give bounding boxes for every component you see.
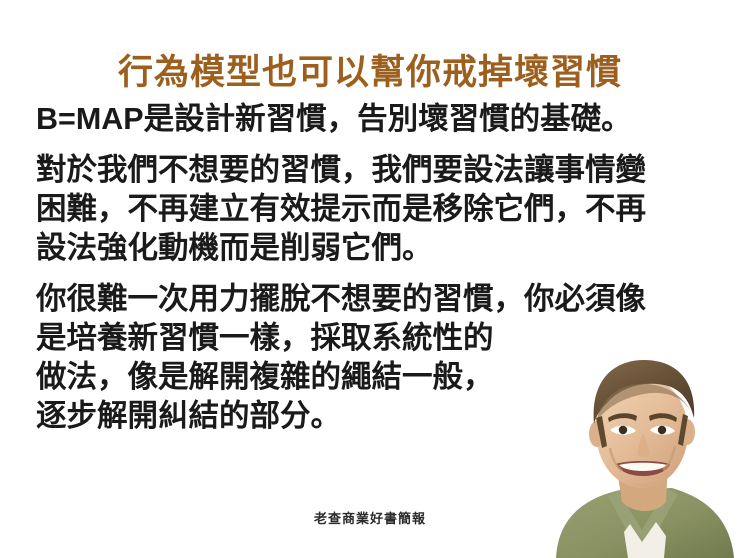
page-title: 行為模型也可以幫你戒掉壞習慣 [0,53,740,93]
portrait-illustration [544,352,740,558]
body-paragraph-2: 對於我們不想要的習慣，我們要設法讓事情變 困難，不再建立有效提示而是移除它們，不… [36,151,726,268]
slide-canvas: 行為模型也可以幫你戒掉壞習慣 B=MAP是設計新習慣，告別壞習慣的基礎。 對於我… [0,0,740,558]
body-line: 設法強化動機而是削弱它們。 [36,229,726,268]
body-line: 對於我們不想要的習慣，我們要設法讓事情變 [36,151,726,190]
body-line: 困難，不再建立有效提示而是移除它們，不再 [36,190,726,229]
body-line: 你很難一次用力擺脫不想要的習慣，你必須像 [36,280,726,319]
body-line: B=MAP是設計新習慣，告別壞習慣的基礎。 [36,100,726,139]
portrait-photo [544,352,740,558]
body-paragraph-1: B=MAP是設計新習慣，告別壞習慣的基礎。 [36,100,726,139]
